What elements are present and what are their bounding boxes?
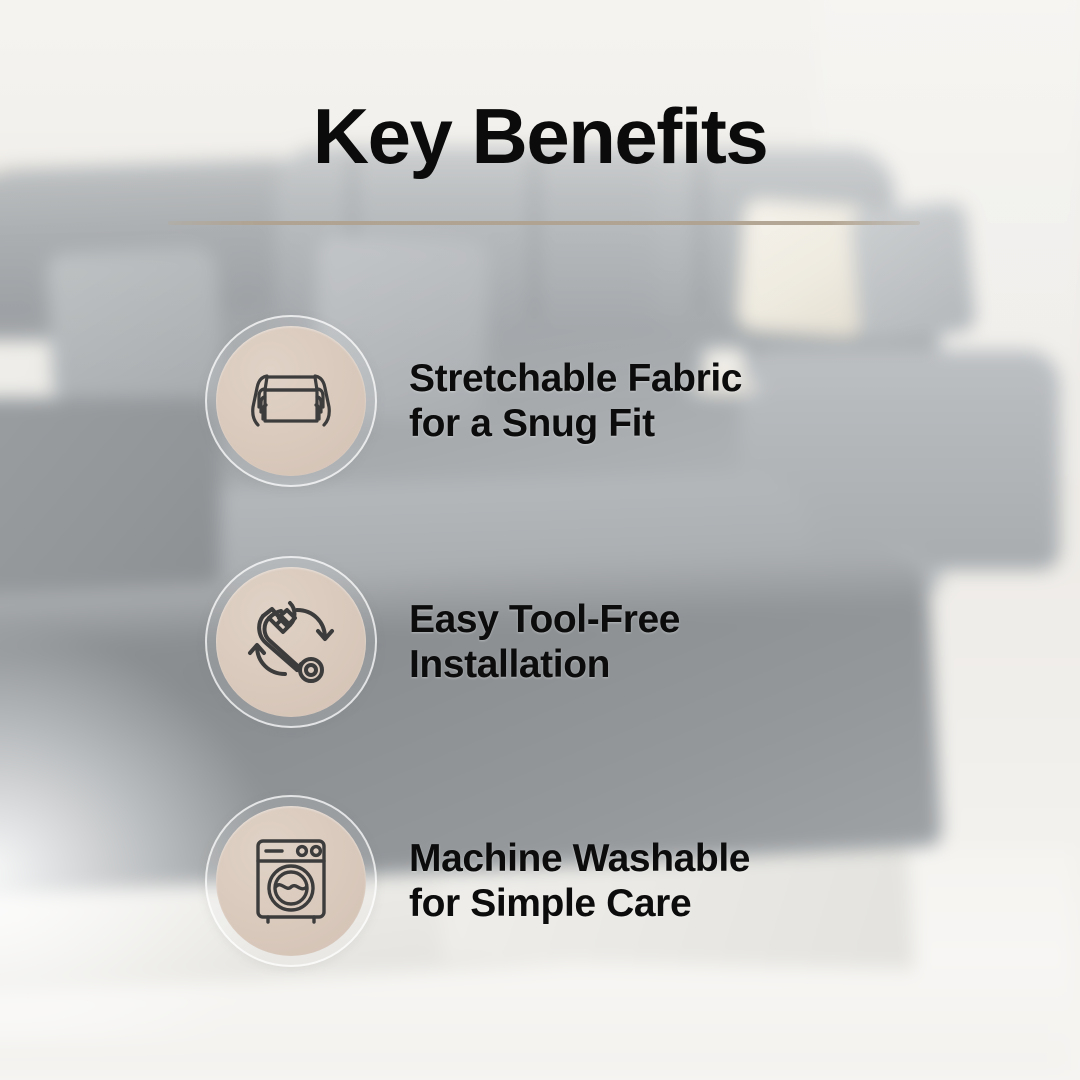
stretch-fabric-hands-icon (216, 326, 366, 476)
benefit-label-line2: for a Snug Fit (409, 401, 742, 446)
wrench-rotation-arrows-icon (216, 567, 366, 717)
benefit-label-line1: Stretchable Fabric (409, 357, 742, 400)
benefit-label-line1: Easy Tool-Free (409, 598, 680, 641)
infographic-canvas: Key Benefits (0, 0, 1080, 1080)
throw-pillow-back-left (46, 246, 224, 405)
benefit-row-tool-free-installation: Easy Tool-Free Installation (205, 556, 680, 728)
benefit-icon-badge (205, 556, 377, 728)
benefit-row-machine-washable: Machine Washable for Simple Care (205, 795, 750, 967)
washing-machine-icon (216, 806, 366, 956)
benefit-row-stretchable-fabric: Stretchable Fabric for a Snug Fit (205, 315, 742, 487)
benefit-label: Easy Tool-Free Installation (409, 597, 680, 687)
page-title: Key Benefits (0, 97, 1080, 175)
benefit-label: Stretchable Fabric for a Snug Fit (409, 356, 742, 446)
benefit-icon-badge (205, 795, 377, 967)
benefit-icon-badge (205, 315, 377, 487)
benefit-label-line1: Machine Washable (409, 837, 750, 880)
benefit-label: Machine Washable for Simple Care (409, 836, 750, 926)
title-divider (168, 221, 920, 225)
benefit-label-line2: Installation (409, 642, 680, 687)
benefit-label-line2: for Simple Care (409, 881, 750, 926)
